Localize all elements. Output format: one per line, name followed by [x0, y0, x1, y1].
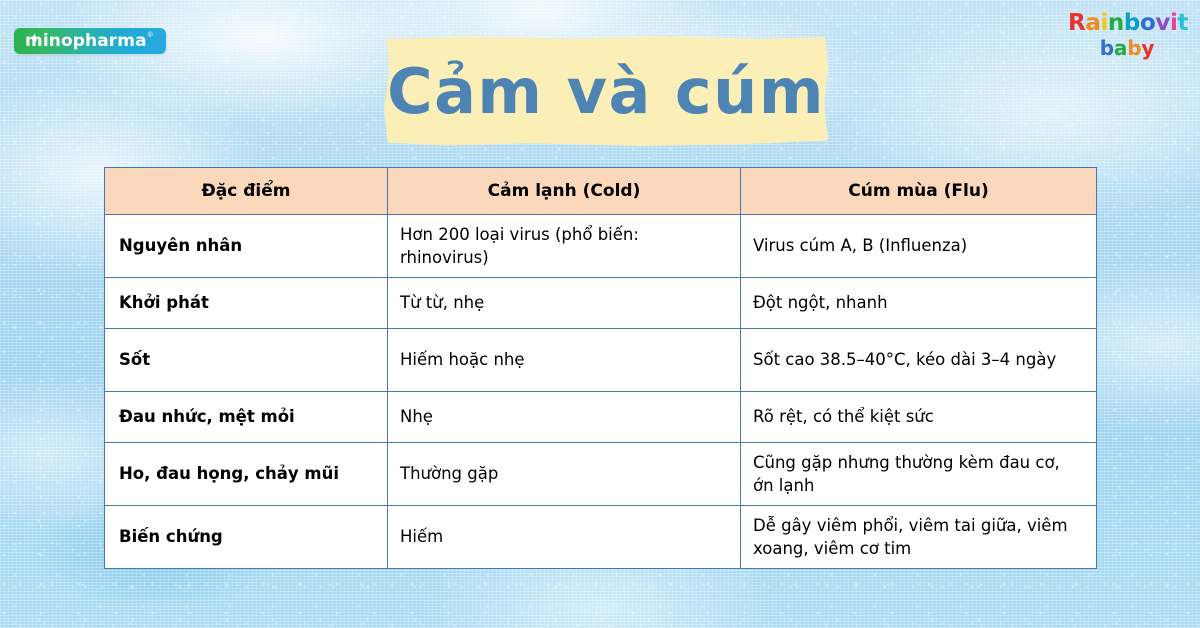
- row-feature-label: Ho, đau họng, chảy mũi: [105, 443, 388, 506]
- row-flu-value: Cũng gặp nhưng thường kèm đau cơ, ớn lạn…: [741, 443, 1097, 506]
- row-feature-label: Biến chứng: [105, 506, 388, 569]
- row-feature-label: Đau nhức, mệt mỏi: [105, 392, 388, 443]
- minopharma-wordmark: minopharma: [25, 33, 147, 50]
- row-feature-label: Nguyên nhân: [105, 215, 388, 278]
- row-flu-value: Rõ rệt, có thể kiệt sức: [741, 392, 1097, 443]
- baby-wordmark: baby: [1068, 38, 1186, 58]
- row-flu-value: Sốt cao 38.5–40°C, kéo dài 3–4 ngày: [741, 329, 1097, 392]
- row-cold-value: Từ từ, nhẹ: [388, 278, 741, 329]
- row-flu-value: Đột ngột, nhanh: [741, 278, 1097, 329]
- column-header-cold: Cảm lạnh (Cold): [388, 168, 741, 215]
- table-row: Sốt Hiếm hoặc nhẹ Sốt cao 38.5–40°C, kéo…: [105, 329, 1097, 392]
- row-cold-value: Thường gặp: [388, 443, 741, 506]
- droplet-icon: [32, 32, 37, 44]
- rainbovit-baby-logo[interactable]: Rainbovit baby: [1068, 12, 1186, 58]
- minopharma-trademark: ®: [148, 32, 153, 39]
- page-title: Cảm và cúm: [384, 36, 828, 146]
- table-row: Khởi phát Từ từ, nhẹ Đột ngột, nhanh: [105, 278, 1097, 329]
- poster-canvas: minopharma ® Rainbovit baby Cảm và cúm Đ…: [0, 0, 1200, 628]
- row-flu-value: Dễ gây viêm phổi, viêm tai giữa, viêm xo…: [741, 506, 1097, 569]
- rainbovit-wordmark: Rainbovit: [1068, 12, 1186, 35]
- table-row: Nguyên nhân Hơn 200 loại virus (phổ biến…: [105, 215, 1097, 278]
- table-header-row: Đặc điểm Cảm lạnh (Cold) Cúm mùa (Flu): [105, 168, 1097, 215]
- table-row: Đau nhức, mệt mỏi Nhẹ Rõ rệt, có thể kiệ…: [105, 392, 1097, 443]
- row-cold-value: Nhẹ: [388, 392, 741, 443]
- row-flu-value: Virus cúm A, B (Influenza): [741, 215, 1097, 278]
- row-cold-value: Hiếm: [388, 506, 741, 569]
- row-cold-value: Hơn 200 loại virus (phổ biến: rhinovirus…: [388, 215, 741, 278]
- column-header-flu: Cúm mùa (Flu): [741, 168, 1097, 215]
- row-feature-label: Sốt: [105, 329, 388, 392]
- cold-vs-flu-table: Đặc điểm Cảm lạnh (Cold) Cúm mùa (Flu) N…: [104, 167, 1097, 569]
- comparison-table-wrapper: Đặc điểm Cảm lạnh (Cold) Cúm mùa (Flu) N…: [104, 167, 1096, 569]
- row-feature-label: Khởi phát: [105, 278, 388, 329]
- table-row: Ho, đau họng, chảy mũi Thường gặp Cũng g…: [105, 443, 1097, 506]
- row-cold-value: Hiếm hoặc nhẹ: [388, 329, 741, 392]
- column-header-feature: Đặc điểm: [105, 168, 388, 215]
- minopharma-logo[interactable]: minopharma ®: [14, 28, 166, 54]
- table-row: Biến chứng Hiếm Dễ gây viêm phổi, viêm t…: [105, 506, 1097, 569]
